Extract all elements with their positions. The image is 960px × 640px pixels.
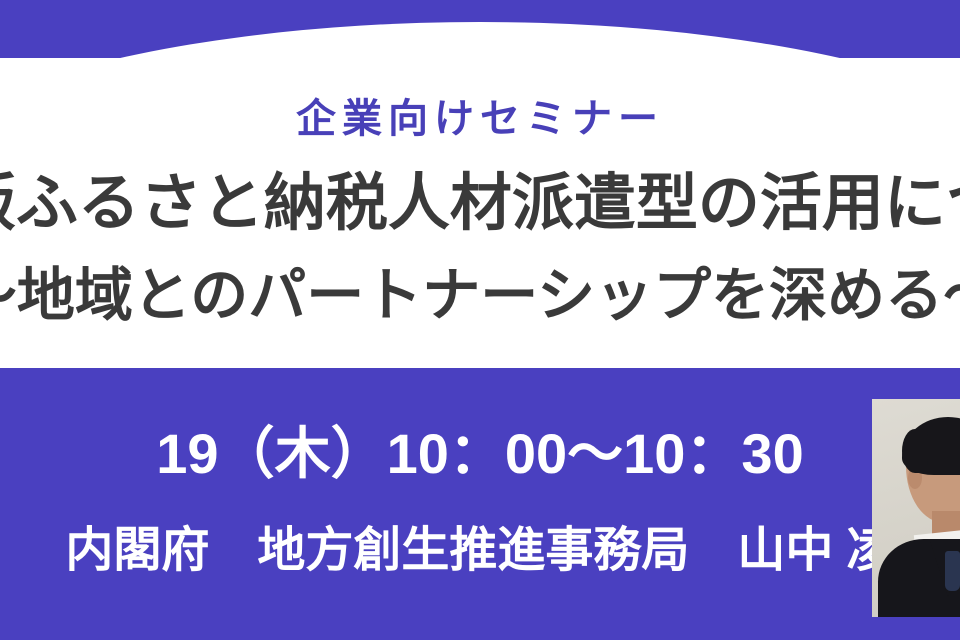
- seminar-title: 企業版ふるさと納税人材派遣型の活用について: [0, 164, 960, 245]
- bottom-info-panel: 19（木）10：00〜10：30 内閣府 地方創生推進事務局 山中 凌: [0, 368, 960, 640]
- seminar-datetime: 19（木）10：00〜10：30: [156, 418, 803, 491]
- seminar-datetime-clip: 19（木）10：00〜10：30: [0, 418, 960, 494]
- top-purple-band: [0, 0, 960, 58]
- seminar-subtitle-clip: 〜地域とのパートナーシップを深める〜: [0, 258, 960, 338]
- seminar-speaker-clip: 内閣府 地方創生推進事務局 山中 凌: [0, 520, 960, 592]
- top-band-curve-mask: [0, 22, 960, 58]
- seminar-subtitle: 〜地域とのパートナーシップを深める〜: [0, 258, 960, 333]
- portrait-hair-side: [902, 429, 928, 473]
- seminar-banner: 企業向けセミナー 企業版ふるさと納税人材派遣型の活用について 〜地域とのパートナ…: [0, 0, 960, 640]
- seminar-speaker: 内閣府 地方創生推進事務局 山中 凌: [65, 520, 894, 582]
- seminar-kicker-heading: 企業向けセミナー: [0, 96, 960, 142]
- seminar-title-clip: 企業版ふるさと納税人材派遣型の活用について: [0, 164, 960, 248]
- speaker-portrait-photo: [872, 399, 960, 617]
- portrait-necktie: [945, 551, 960, 591]
